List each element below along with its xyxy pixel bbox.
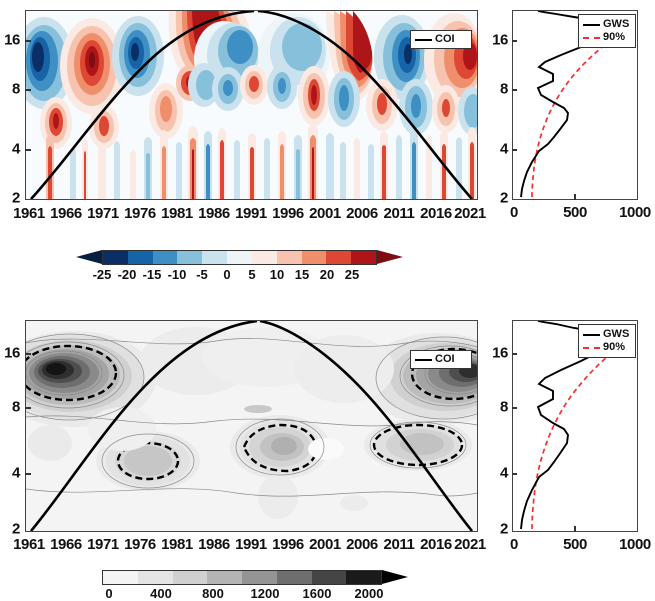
top-wavelet-xtick: 1961: [13, 205, 45, 222]
top-gws-ytick-8: 8: [490, 81, 508, 98]
top-gws-xtickmark: [574, 194, 576, 200]
bottom-wavelet-xtick: 2011: [384, 536, 415, 553]
top-ytickmark: [25, 149, 31, 151]
bottom-colorbar-tick: 1200: [251, 586, 280, 601]
top-wavelet-xtick: 1981: [161, 205, 193, 222]
bottom-gws-legend[interactable]: GWS 90%: [578, 324, 636, 358]
bottom-gws-ytick-16: 16: [490, 345, 508, 362]
panel-bottom-wavelet: 16 8 4 2 1961 1966 1971 1976 1981 1986 1…: [0, 310, 490, 560]
bottom-wavelet-xtick: 1986: [198, 536, 230, 553]
top-gws-xtick-0: 0: [510, 204, 518, 221]
bottom-wavelet-ytick-16: 16: [0, 345, 20, 362]
top-wavelet-xtick: 1996: [272, 205, 304, 222]
legend-row-coi: COI: [415, 353, 467, 366]
legend-row-gws: GWS: [583, 18, 631, 31]
top-gws-ytick-2: 2: [490, 190, 508, 207]
bottom-colorbar-tick: 2000: [355, 586, 384, 601]
top-wavelet-xtick: 2011: [384, 205, 415, 222]
bottom-gws-xtickmark: [574, 526, 576, 532]
coi-line-swatch: [415, 359, 432, 361]
legend-row-sig90: 90%: [583, 341, 631, 354]
legend-row-coi: COI: [415, 33, 467, 46]
top-ytickmark: [25, 89, 31, 91]
top-gws-ytickmark: [512, 40, 517, 42]
bottom-colorbar-cap-high: [382, 570, 408, 584]
top-colorbar-tick: 20: [320, 267, 334, 282]
bottom-gws-xtick-1000: 1000: [619, 536, 651, 553]
top-wavelet-ytick-8: 8: [0, 81, 20, 98]
bottom-gws-ytickmark: [512, 353, 517, 355]
top-colorbar: [102, 250, 377, 265]
sig90-legend-label: 90%: [603, 342, 625, 353]
top-wavelet-xtick: 1991: [235, 205, 267, 222]
legend-row-sig90: 90%: [583, 31, 631, 44]
bottom-wavelet-xtick: 2016: [420, 536, 452, 553]
bottom-gws-xtick-500: 500: [563, 536, 587, 553]
top-wavelet-ytick-16: 16: [0, 32, 20, 49]
bottom-colorbar: [102, 570, 382, 585]
top-wavelet-xtick: 2016: [420, 205, 452, 222]
top-colorbar-group: -25 -20 -15 -10 -5 0 5 10 15 20 25: [0, 245, 490, 290]
top-gws-xtick-1000: 1000: [619, 204, 651, 221]
top-gws-legend[interactable]: GWS 90%: [578, 14, 636, 48]
top-colorbar-tick: -15: [143, 267, 162, 282]
bottom-wavelet-xtick: 1976: [124, 536, 156, 553]
figure-root: 16 8 4 2 1961 1966 1971 1976 1981 1986 1…: [0, 0, 655, 600]
coi-legend-label: COI: [435, 34, 455, 45]
panel-bottom-gws: 16 8 4 2 0 500 1000 GWS 90%: [490, 310, 655, 560]
top-colorbar-tick: 25: [345, 267, 359, 282]
sig90-legend-label: 90%: [603, 32, 625, 43]
bottom-colorbar-cap-low: [76, 570, 102, 584]
bottom-wavelet-xtick: 1961: [13, 536, 45, 553]
bottom-wavelet-ytick-8: 8: [0, 399, 20, 416]
top-wavelet-xtick: 1986: [198, 205, 230, 222]
top-gws-ytickmark: [512, 149, 517, 151]
bottom-colorbar-tick: 1600: [303, 586, 332, 601]
bottom-gws-sig90-curve: [532, 347, 619, 529]
coi-legend-label: COI: [435, 354, 455, 365]
bottom-gws-ytick-4: 4: [490, 465, 508, 482]
top-wavelet-xtick: 2021: [454, 205, 486, 222]
bottom-gws-ytick-2: 2: [490, 521, 508, 538]
bottom-wavelet-ytick-2: 2: [0, 521, 20, 538]
top-colorbar-tick: 10: [270, 267, 284, 282]
top-gws-xtick-500: 500: [563, 204, 587, 221]
top-colorbar-cap-high: [377, 250, 403, 264]
bottom-wavelet-ytick-4: 4: [0, 465, 20, 482]
sig90-line-swatch: [583, 37, 600, 39]
top-wavelet-xtick: 1971: [87, 205, 119, 222]
bottom-colorbar-group: 0 400 800 1200 1600 2000: [0, 566, 490, 600]
top-wavelet-ytick-2: 2: [0, 190, 20, 207]
top-colorbar-tick: -10: [168, 267, 187, 282]
top-colorbar-tick: -5: [196, 267, 208, 282]
top-wavelet-xtick: 1976: [124, 205, 156, 222]
bottom-gws-ytick-8: 8: [490, 399, 508, 416]
panel-top-gws: 16 8 4 2 0 500 1000 GWS 90%: [490, 0, 655, 240]
gws-legend-label: GWS: [603, 19, 629, 30]
bottom-gws-ytickmark: [512, 407, 517, 409]
bottom-wavelet-xtick: 1966: [50, 536, 82, 553]
bottom-ytickmark: [25, 473, 31, 475]
sig90-line-swatch: [583, 347, 600, 349]
top-wavelet-ytick-4: 4: [0, 141, 20, 158]
gws-line-swatch: [583, 334, 600, 336]
top-colorbar-tick: 0: [223, 267, 230, 282]
top-colorbar-tick: 15: [295, 267, 309, 282]
coi-line-swatch: [415, 39, 432, 41]
bottom-ytickmark: [25, 407, 31, 409]
bottom-wavelet-xtick: 2006: [346, 536, 378, 553]
top-colorbar-tick: -25: [93, 267, 112, 282]
bottom-ytickmark: [25, 353, 31, 355]
bottom-gws-ytickmark: [512, 473, 517, 475]
top-gws-ytickmark: [512, 89, 517, 91]
panel-top-wavelet: 16 8 4 2 1961 1966 1971 1976 1981 1986 1…: [0, 0, 490, 240]
bottom-colorbar-tick: 400: [150, 586, 172, 601]
gws-line-swatch: [583, 24, 600, 26]
top-colorbar-cap-low: [76, 250, 102, 264]
top-gws-ytick-16: 16: [490, 32, 508, 49]
bottom-colorbar-tick: 0: [105, 586, 112, 601]
top-gws-sig90-curve: [532, 34, 619, 197]
bottom-wavelet-xtick: 1991: [235, 536, 267, 553]
bottom-wavelet-xtick: 2001: [309, 536, 341, 553]
top-ytickmark: [25, 40, 31, 42]
bottom-wavelet-xtick: 2021: [454, 536, 486, 553]
bottom-wavelet-legend[interactable]: COI: [410, 350, 472, 369]
top-colorbar-tick: -20: [118, 267, 137, 282]
bottom-colorbar-tick: 800: [202, 586, 224, 601]
top-wavelet-xtick: 1966: [50, 205, 82, 222]
top-gws-ytick-4: 4: [490, 141, 508, 158]
gws-legend-label: GWS: [603, 329, 629, 340]
top-wavelet-xtick: 2006: [346, 205, 378, 222]
top-colorbar-tick: 5: [248, 267, 255, 282]
top-wavelet-legend[interactable]: COI: [410, 30, 472, 49]
legend-row-gws: GWS: [583, 328, 631, 341]
bottom-gws-xtick-0: 0: [510, 536, 518, 553]
bottom-wavelet-xtick: 1971: [87, 536, 119, 553]
bottom-wavelet-xtick: 1981: [161, 536, 193, 553]
top-wavelet-xtick: 2001: [309, 205, 341, 222]
bottom-wavelet-xtick: 1996: [272, 536, 304, 553]
